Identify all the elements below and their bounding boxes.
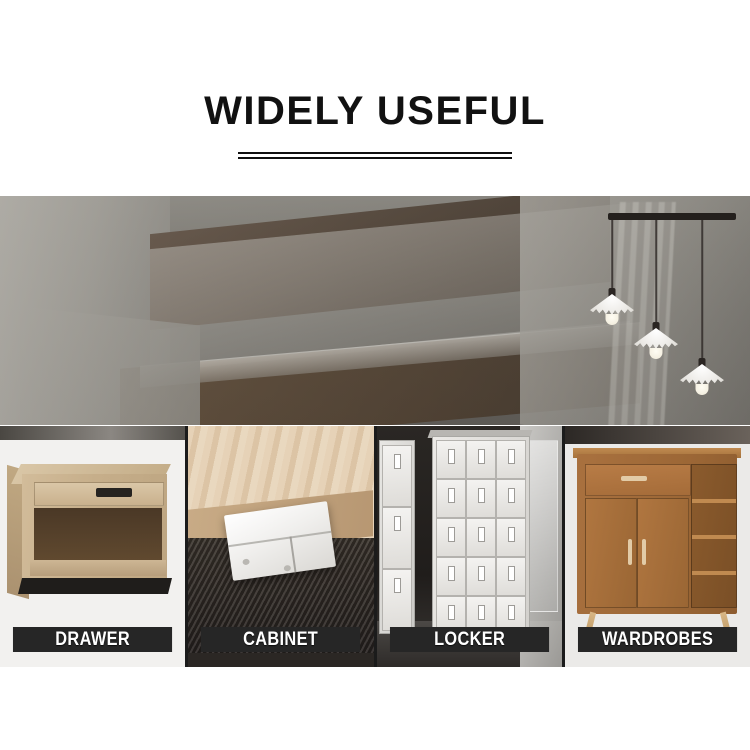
wardrobe-drawer-handle-icon bbox=[621, 476, 647, 481]
pendant-ceiling-bar bbox=[608, 213, 736, 220]
divider-line-top bbox=[238, 152, 512, 154]
panel-caption-wardrobes: WARDROBES bbox=[578, 627, 737, 652]
locker-unit-narrow bbox=[379, 440, 415, 634]
wardrobe-open-shelves bbox=[691, 464, 737, 608]
title-divider bbox=[238, 152, 512, 159]
page-title: WIDELY USEFUL bbox=[0, 88, 750, 134]
panel-wardrobes[interactable]: WARDROBES bbox=[565, 426, 750, 667]
page-header: WIDELY USEFUL bbox=[0, 88, 750, 159]
wardrobe-door-left bbox=[585, 498, 637, 608]
divider-line-bottom bbox=[238, 157, 512, 159]
pendant-lamp-icon-3 bbox=[680, 220, 724, 386]
panel-caption-cabinet: CABINET bbox=[201, 627, 360, 652]
panel-locker[interactable]: LOCKER bbox=[377, 426, 565, 667]
hero-banner: THE ELEGANT DESIGN IS MUCH INDUCTION SIM… bbox=[0, 196, 750, 425]
pendant-lamp-icon-1 bbox=[590, 220, 634, 316]
panel-cabinet[interactable]: CABINET bbox=[188, 426, 376, 667]
pendant-lamp-icon-2 bbox=[634, 220, 678, 350]
locker-unit-grid bbox=[432, 436, 530, 638]
panel-caption-locker: LOCKER bbox=[389, 627, 548, 652]
panel-caption-drawer: DRAWER bbox=[13, 627, 172, 652]
drawer-handle-icon bbox=[96, 488, 132, 497]
wardrobe-door-right bbox=[637, 498, 689, 608]
panel-drawer[interactable]: DRAWER bbox=[0, 426, 188, 667]
application-panel-grid: DRAWER CABINET bbox=[0, 426, 750, 667]
